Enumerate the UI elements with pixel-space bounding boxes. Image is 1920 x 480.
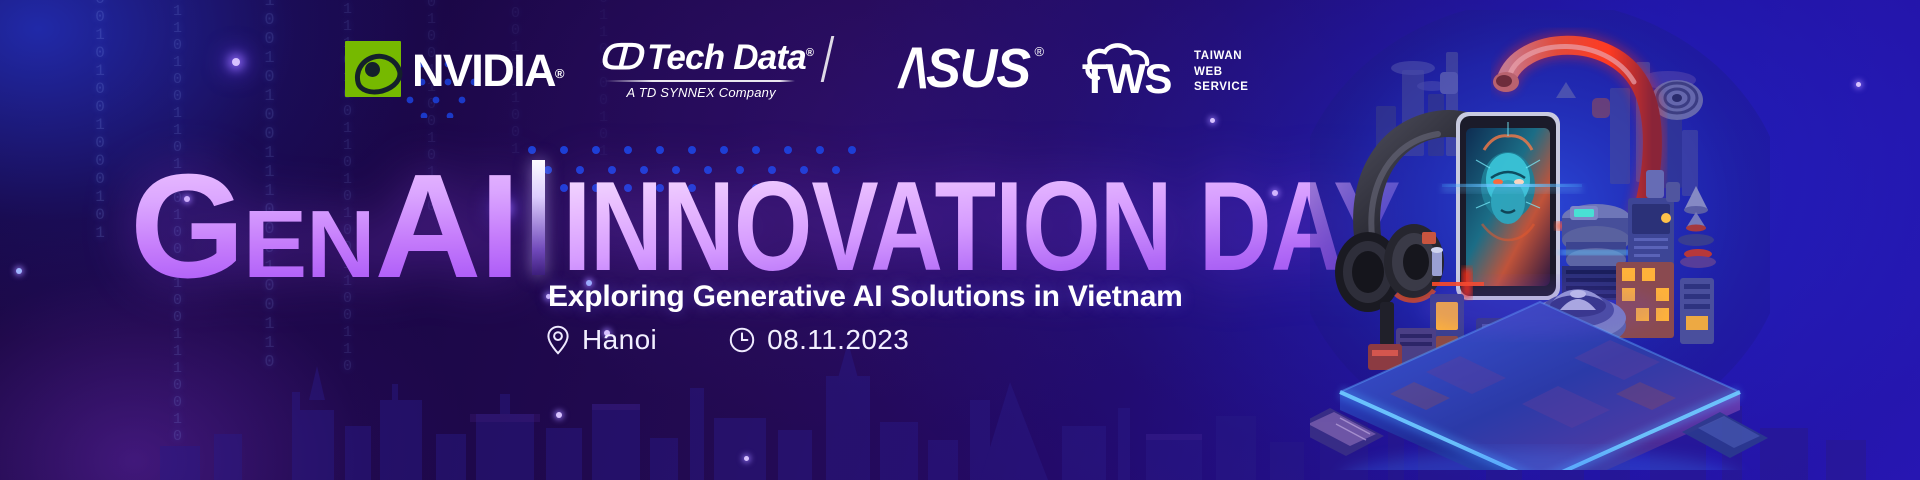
tws-mark: TWS (1082, 42, 1186, 98)
asus-wordmark: /\SUS (899, 41, 1030, 96)
meta-location-text: Hanoi (582, 324, 657, 356)
genai-wordmark: GENAI (130, 166, 518, 287)
registered-mark: ® (1034, 44, 1044, 59)
meta-date-text: 08.11.2023 (767, 324, 909, 356)
subtitle: Exploring Generative AI Solutions in Vie… (548, 280, 1183, 314)
glow-spark (1856, 82, 1861, 87)
techdata-slash-divider (821, 36, 835, 82)
registered-mark: ® (555, 66, 565, 81)
binary-column: 00101001000101 (92, 0, 107, 242)
logo-nvidia[interactable]: NVIDIA® (345, 40, 565, 98)
genai-g: G (130, 144, 243, 309)
event-meta-row: Hanoi 08.11.2023 (546, 324, 909, 356)
tws-line: SERVICE (1194, 81, 1248, 95)
nvidia-eye-icon (345, 41, 401, 97)
meta-location: Hanoi (546, 324, 657, 356)
meta-date: 08.11.2023 (729, 324, 909, 356)
logo-tws[interactable]: TWS TAIWAN WEB SERVICE (1082, 40, 1248, 98)
logo-asus[interactable]: /\SUS ® (899, 40, 1030, 98)
glow-spark (556, 412, 562, 418)
glow-spark (744, 456, 749, 461)
headline-group: GENAI INNOVATION DAY (130, 160, 1426, 287)
techdata-wordmark: Tech Data® (647, 40, 813, 75)
tws-tagline-lines: TAIWAN WEB SERVICE (1194, 50, 1248, 98)
nvidia-wordmark: NVIDIA® (412, 48, 565, 93)
location-pin-icon (546, 325, 570, 355)
techdata-underline (605, 80, 795, 82)
genai-isometric-city-illustration (1310, 10, 1770, 470)
clock-icon (729, 327, 755, 353)
tws-wordmark: TWS (1082, 58, 1171, 100)
vertical-bar-divider (532, 160, 545, 275)
glow-spark (1210, 118, 1215, 123)
registered-mark: ® (806, 47, 813, 59)
tws-line: TAIWAN (1194, 50, 1248, 64)
tws-line: WEB (1194, 66, 1248, 80)
genai-ai: AI (374, 144, 518, 309)
techdata-d-mark-icon: ↀ (599, 40, 641, 75)
logo-techdata[interactable]: ↀ Tech Data® A TD SYNNEX Company (599, 40, 814, 114)
innovation-day-title: INNOVATION DAY (563, 173, 1400, 281)
genai-innovation-day-banner: 00101001000101 0110100110100100110011100… (0, 0, 1920, 480)
techdata-tagline: A TD SYNNEX Company (627, 85, 776, 100)
glow-spark (232, 58, 240, 66)
glow-spark (16, 268, 22, 274)
techdata-wordmark-row: ↀ Tech Data® (599, 40, 814, 75)
partner-logo-row: NVIDIA® ↀ Tech Data® A TD SYNNEX Company… (345, 40, 1249, 114)
genai-en: EN (243, 191, 374, 298)
